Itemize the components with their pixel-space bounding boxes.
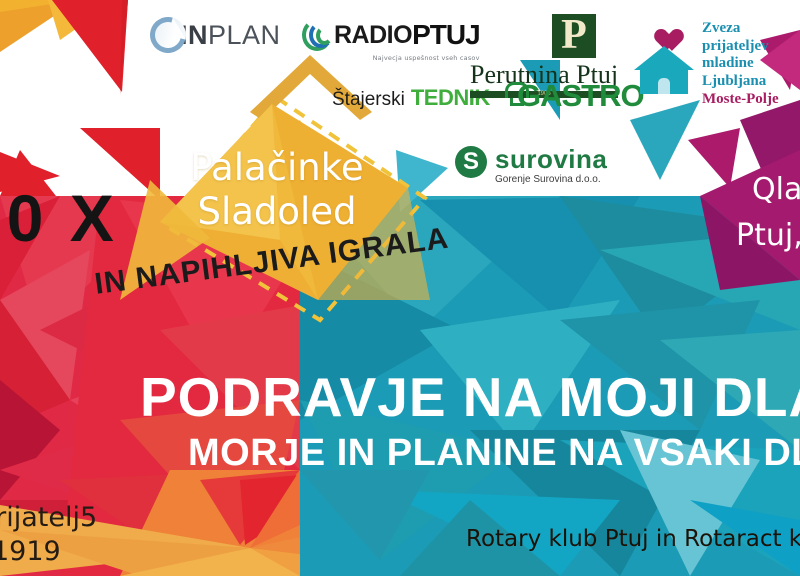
bottom-right-credit: Rotary klub Ptuj in Rotaract klu <box>466 526 800 552</box>
surovina-s-icon: S <box>455 146 487 178</box>
zveza-line-5: Moste-Polje <box>702 91 779 109</box>
inplan-ring-icon <box>143 10 192 59</box>
radio-word-radio: RADIO <box>334 21 412 50</box>
house-heart-icon <box>634 20 694 92</box>
left-number-text: 00 X <box>0 180 118 256</box>
right-text-line-2: Ptuj, <box>736 218 800 253</box>
zveza-text-block: Zveza prijateljev mladine Ljubljana Most… <box>702 20 779 108</box>
logo-radio-ptuj: RADIO PTUJ Najvecja uspešnost vseh casov <box>300 17 480 62</box>
zveza-line-3: mladine <box>702 55 779 73</box>
surovina-subtitle: Gorenje Surovina d.o.o. <box>495 174 607 185</box>
perutnina-monogram-letter: P <box>552 13 596 57</box>
gastro-wordmark: GASTRO <box>517 78 644 114</box>
house-door-icon <box>658 78 670 94</box>
radio-ptuj-row: RADIO PTUJ <box>300 17 480 53</box>
zveza-line-2: prijateljev <box>702 38 779 56</box>
zveza-line-1: Zveza <box>702 20 779 38</box>
heart-icon <box>650 20 676 44</box>
bottom-left-line-1: prijatelj5 <box>0 502 97 533</box>
center-badge-text: Palačinke Sladoled <box>152 146 402 233</box>
logo-zveza-prijateljev-mladine: Zveza prijateljev mladine Ljubljana Most… <box>634 20 779 108</box>
inplan-word-second: PLAN <box>208 20 281 50</box>
logo-inplan: INPLAN <box>150 17 281 53</box>
headline-text: PODRAVJE NA MOJI DLA <box>140 365 800 429</box>
subheadline-text: MORJE IN PLANINE NA VSAKI DLA <box>188 432 800 475</box>
radio-waves-icon <box>300 17 334 53</box>
perutnina-monogram-icon: P <box>552 14 596 58</box>
house-roof-icon <box>634 46 694 70</box>
right-text-line-1: Qla <box>752 172 800 207</box>
center-badge-line-2: Sladoled <box>152 190 402 234</box>
radio-tagline: Najvecja uspešnost vseh casov <box>300 54 480 62</box>
inplan-wordmark: INPLAN <box>180 20 281 51</box>
poster-canvas: INPLAN RADIO PTUJ Najvecja uspešnost vse… <box>0 0 800 576</box>
zveza-line-4: Ljubljana <box>702 73 779 91</box>
logo-gastro: GASTRO <box>497 82 644 114</box>
logo-surovina: S surovina Gorenje Surovina d.o.o. <box>455 146 607 185</box>
bottom-left-line-2: 1919 <box>0 536 61 567</box>
surovina-wordmark: surovina <box>495 146 607 172</box>
center-badge-line-1: Palačinke <box>152 146 402 190</box>
surovina-text-block: surovina Gorenje Surovina d.o.o. <box>495 146 607 185</box>
